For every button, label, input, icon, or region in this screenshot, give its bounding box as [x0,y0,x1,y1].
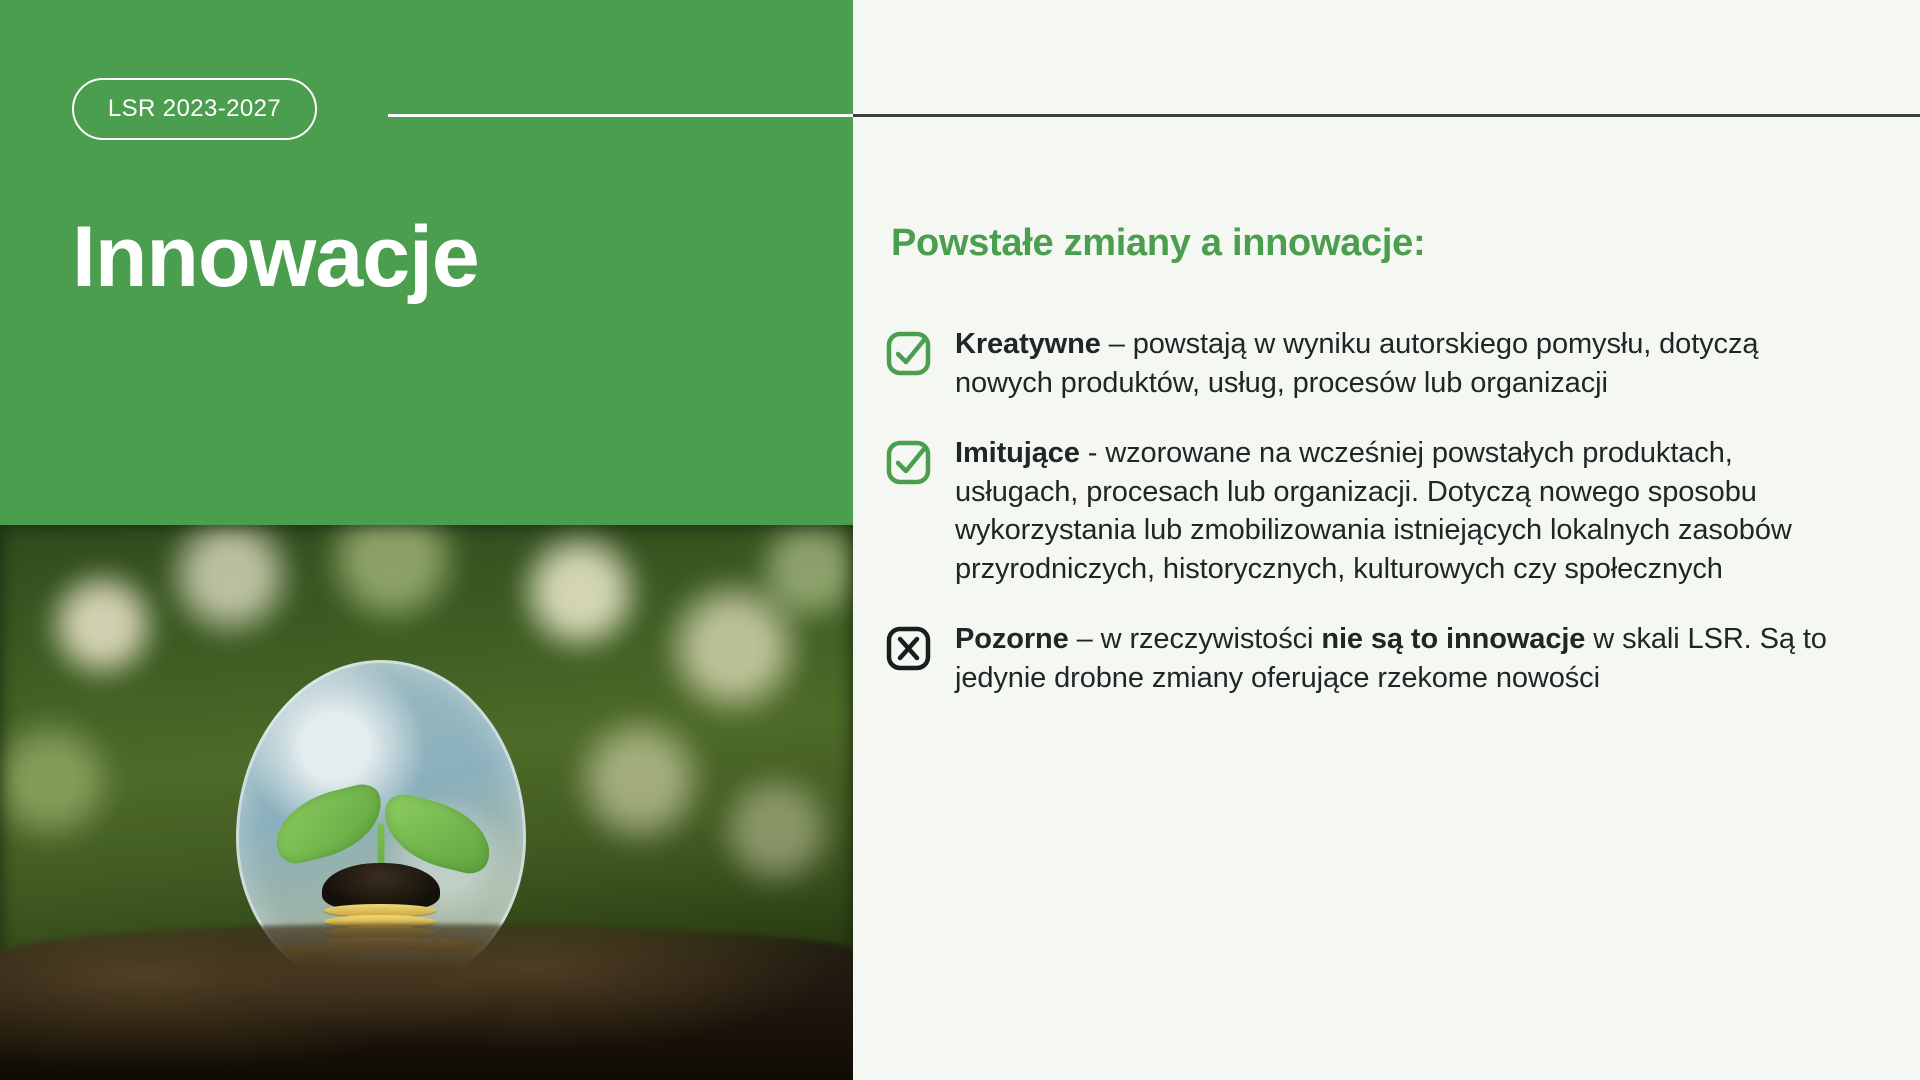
list-item-text: Pozorne – w rzeczywistości nie są to inn… [955,620,1835,697]
header-rule-left [388,114,853,117]
list-item-separator: – [1069,623,1101,655]
list-item-separator: - [1080,437,1105,469]
list-item-separator: – [1101,328,1133,360]
list-item-lead: Pozorne [955,623,1069,655]
list-item: Pozorne – w rzeczywistości nie są to inn… [885,620,1885,697]
left-column: LSR 2023-2027 Innowacje [0,0,853,1080]
checkbox-x-icon [885,624,933,672]
badge-lsr-period: LSR 2023-2027 [72,78,317,140]
list-item-emphasis: nie są to innowacje [1321,623,1585,655]
panel-heading: Powstałe zmiany a innowacje: [891,222,1425,265]
header-rule-right [853,114,1920,117]
list-item: Imitujące - wzorowane na wcześniej powst… [885,434,1885,588]
badge-label: LSR 2023-2027 [108,95,281,123]
green-title-panel: LSR 2023-2027 Innowacje [0,0,853,525]
checkbox-check-icon [885,438,933,486]
checkbox-check-icon [885,329,933,377]
slide: LSR 2023-2027 Innowacje [0,0,1920,1080]
list-item-text: Kreatywne – powstają w wyniku autorskieg… [955,325,1835,402]
list-item-lead: Kreatywne [955,328,1101,360]
right-content-panel: Powstałe zmiany a innowacje: Kreatywne –… [853,0,1920,1080]
list-item-lead: Imitujące [955,437,1080,469]
leaf-left [267,780,391,867]
photo-soil-ground [0,924,853,1080]
list-item: Kreatywne – powstają w wyniku autorskieg… [885,325,1885,402]
list-item-body-before: w rzeczywistości [1101,623,1322,655]
list-item-text: Imitujące - wzorowane na wcześniej powst… [955,434,1835,588]
page-title: Innowacje [72,212,479,302]
lightbulb-seedling-photo [0,525,853,1080]
innovation-types-list: Kreatywne – powstają w wyniku autorskieg… [885,325,1885,730]
